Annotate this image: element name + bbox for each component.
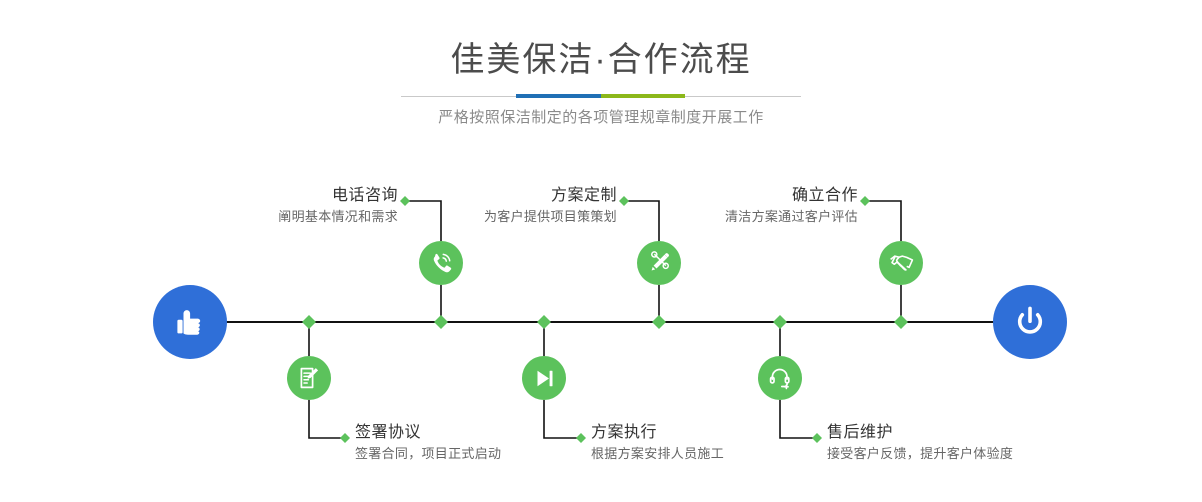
axis-diamond-6 xyxy=(894,315,908,329)
flow-node-step-5[interactable] xyxy=(879,241,923,285)
flow-label-step-2-title: 签署协议 xyxy=(355,422,501,444)
axis-diamond-3 xyxy=(537,315,551,329)
leader-step-1 xyxy=(409,201,441,241)
play-skip-icon xyxy=(532,366,557,391)
flow-node-step-1[interactable] xyxy=(419,241,463,285)
flow-label-step-1-desc: 阐明基本情况和需求 xyxy=(278,207,398,227)
flow-label-step-3-desc: 为客户提供项目策策划 xyxy=(484,207,617,227)
flow-start-node[interactable] xyxy=(153,285,227,359)
divider-segment-gray-right xyxy=(685,96,801,97)
page-title: 佳美保洁·合作流程 xyxy=(0,38,1202,82)
leader-step-2 xyxy=(309,400,341,438)
flow-node-step-4[interactable] xyxy=(522,356,566,400)
title-divider xyxy=(401,94,801,98)
flow-label-step-4: 方案执行 根据方案安排人员施工 xyxy=(591,422,724,464)
flow-label-step-3-title: 方案定制 xyxy=(484,185,617,207)
flow-label-step-3: 方案定制 为客户提供项目策策划 xyxy=(484,185,617,227)
flow-label-step-2-desc: 签署合同，项目正式启动 xyxy=(355,444,501,464)
flow-label-step-4-desc: 根据方案安排人员施工 xyxy=(591,444,724,464)
label-diamond-step-4 xyxy=(576,433,586,443)
flow-node-step-6[interactable] xyxy=(758,356,802,400)
leader-step-5 xyxy=(869,201,901,241)
flow-label-step-5: 确立合作 清洁方案通过客户评估 xyxy=(725,185,858,227)
phone-call-icon xyxy=(428,250,454,276)
flow-label-step-6-title: 售后维护 xyxy=(827,422,1013,444)
flow-label-step-5-desc: 清洁方案通过客户评估 xyxy=(725,207,858,227)
handshake-icon xyxy=(888,250,915,277)
axis-diamond-4 xyxy=(652,315,666,329)
page-subtitle: 严格按照保洁制定的各项管理规章制度开展工作 xyxy=(0,106,1202,130)
leader-step-3 xyxy=(628,201,659,241)
customer-service-headset-icon xyxy=(767,365,793,391)
label-diamond-step-6 xyxy=(812,433,822,443)
leader-step-6 xyxy=(780,400,813,438)
label-diamond-step-1 xyxy=(400,196,410,206)
divider-segment-green xyxy=(601,94,685,98)
flow-node-step-2[interactable] xyxy=(287,356,331,400)
document-pen-icon xyxy=(296,365,322,391)
flow-label-step-5-title: 确立合作 xyxy=(725,185,858,207)
flow-label-step-4-title: 方案执行 xyxy=(591,422,724,444)
pointing-hand-icon xyxy=(170,302,210,342)
axis-diamond-2 xyxy=(434,315,448,329)
divider-segment-gray-left xyxy=(401,96,516,97)
header: 佳美保洁·合作流程 严格按照保洁制定的各项管理规章制度开展工作 xyxy=(0,0,1202,150)
process-flow-diagram: 电话咨询 阐明基本情况和需求 方案定制 为客户提供项目策策划 xyxy=(0,150,1202,502)
flow-label-step-6-desc: 接受客户反馈，提升客户体验度 xyxy=(827,444,1013,464)
flow-label-step-2: 签署协议 签署合同，项目正式启动 xyxy=(355,422,501,464)
leader-step-4 xyxy=(544,400,577,438)
flow-end-node[interactable] xyxy=(993,285,1067,359)
flow-label-step-1-title: 电话咨询 xyxy=(278,185,398,207)
flow-label-step-6: 售后维护 接受客户反馈，提升客户体验度 xyxy=(827,422,1013,464)
axis-diamond-5 xyxy=(773,315,787,329)
label-diamond-step-5 xyxy=(860,196,870,206)
label-diamond-step-2 xyxy=(340,433,350,443)
pencil-design-icon xyxy=(646,250,672,276)
flow-node-step-3[interactable] xyxy=(637,241,681,285)
infographic-page: 佳美保洁·合作流程 严格按照保洁制定的各项管理规章制度开展工作 xyxy=(0,0,1202,502)
label-diamond-step-3 xyxy=(619,196,629,206)
divider-segment-blue xyxy=(516,94,601,98)
label-diamond-markers xyxy=(340,196,870,443)
axis-diamond-1 xyxy=(302,315,316,329)
flow-label-step-1: 电话咨询 阐明基本情况和需求 xyxy=(278,185,398,227)
power-button-icon xyxy=(1010,302,1050,342)
